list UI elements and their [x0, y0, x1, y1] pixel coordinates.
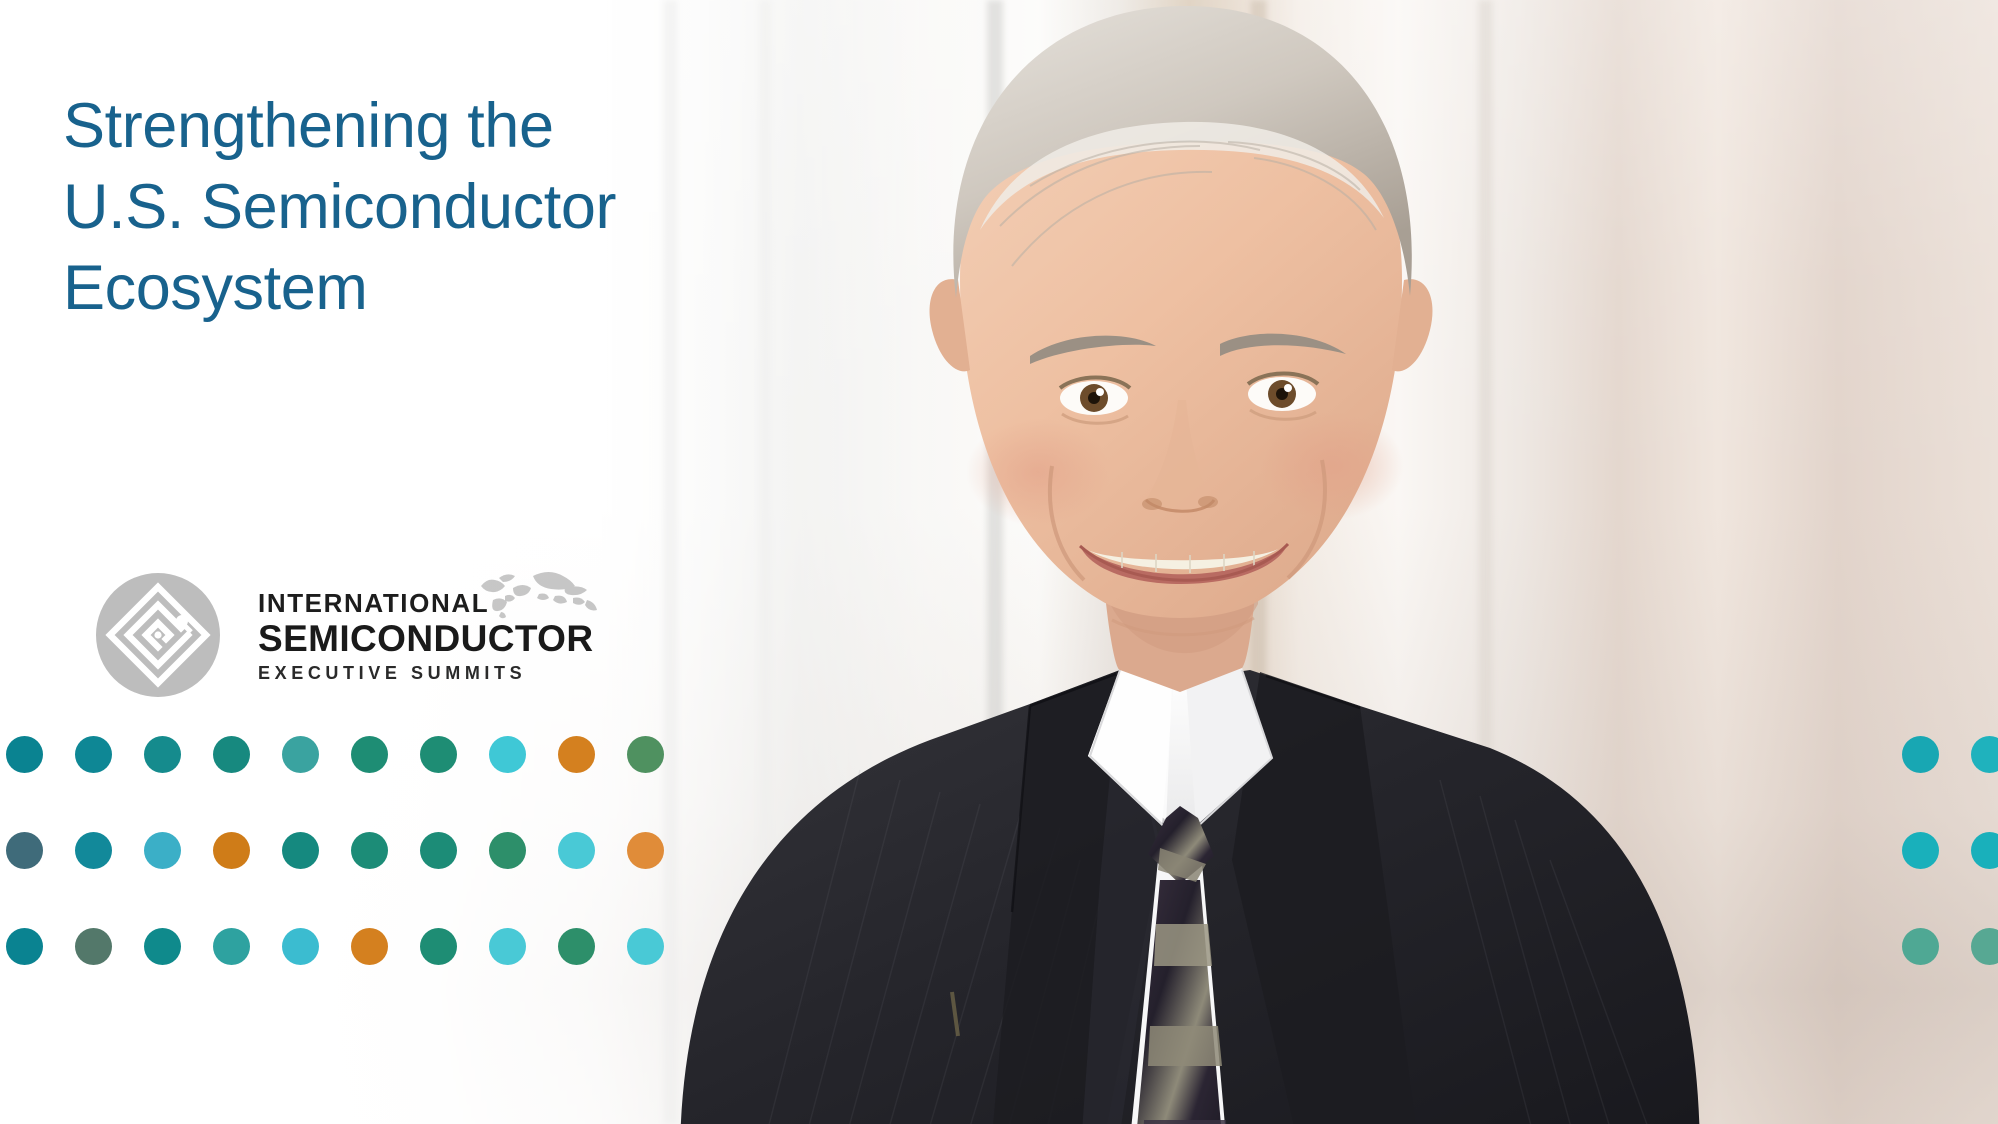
logo-lockup[interactable]: INTERNATIONAL SEMICONDUCTOR EXECUTIVE SU…	[96, 573, 593, 697]
logo-line-executive-summits: EXECUTIVE SUMMITS	[258, 661, 593, 685]
logo-line-semiconductor: SEMICONDUCTOR	[258, 618, 593, 659]
logo-wordmark: INTERNATIONAL SEMICONDUCTOR EXECUTIVE SU…	[258, 586, 593, 685]
speaker-portrait	[560, 0, 1740, 1124]
banner-canvas: Strengthening the U.S. Semiconductor Eco…	[0, 0, 1998, 1124]
nested-diamond-spiral-icon	[96, 573, 220, 697]
world-map-icon	[469, 570, 607, 624]
page-title: Strengthening the U.S. Semiconductor Eco…	[63, 86, 703, 329]
